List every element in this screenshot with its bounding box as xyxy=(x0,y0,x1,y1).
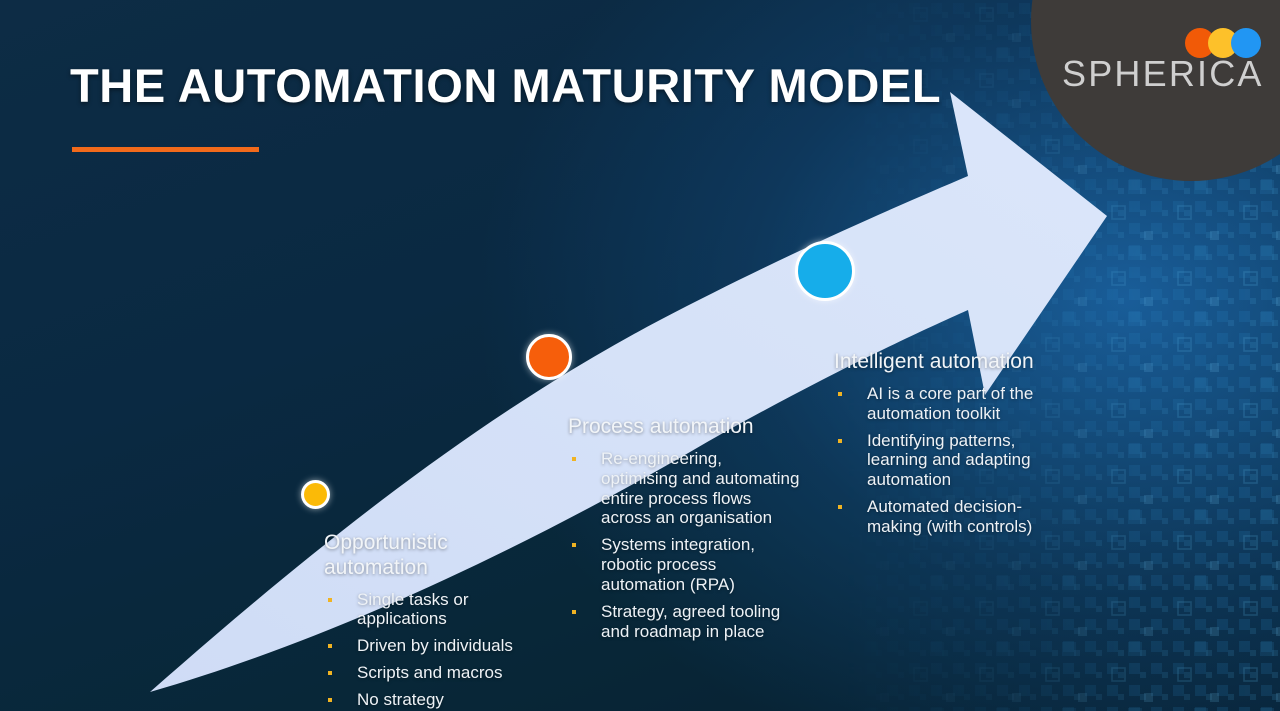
stage-marker-process xyxy=(526,334,572,380)
list-item: Scripts and macros xyxy=(324,663,554,683)
list-item: Strategy, agreed tooling and roadmap in … xyxy=(568,602,803,642)
stage-heading: Process automation xyxy=(568,415,803,440)
list-item: Systems integration, robotic process aut… xyxy=(568,535,803,595)
stage-heading: Intelligent automation xyxy=(834,350,1059,375)
stage-block-opportunistic: Opportunistic automation Single tasks or… xyxy=(324,531,554,711)
stage-block-process: Process automation Re-engineering, optim… xyxy=(568,415,803,649)
slide-canvas: THE AUTOMATION MATURITY MODEL SPHERICA O… xyxy=(0,0,1280,711)
list-item: Driven by individuals xyxy=(324,636,554,656)
list-item: Re-engineering, optimising and automatin… xyxy=(568,449,803,529)
page-title: THE AUTOMATION MATURITY MODEL xyxy=(70,58,941,113)
stage-marker-opportunistic xyxy=(301,480,330,509)
title-accent-rule xyxy=(72,147,259,152)
list-item: Identifying patterns, learning and adapt… xyxy=(834,431,1059,491)
stage-block-intelligent: Intelligent automation AI is a core part… xyxy=(834,350,1059,544)
stage-marker-intelligent xyxy=(795,241,855,301)
list-item: AI is a core part of the automation tool… xyxy=(834,384,1059,424)
stage-bullet-list: Re-engineering, optimising and automatin… xyxy=(568,449,803,642)
stage-bullet-list: Single tasks or applications Driven by i… xyxy=(324,590,554,710)
stage-heading: Opportunistic automation xyxy=(324,531,554,581)
stage-bullet-list: AI is a core part of the automation tool… xyxy=(834,384,1059,537)
list-item: Automated decision-making (with controls… xyxy=(834,497,1059,537)
list-item: Single tasks or applications xyxy=(324,590,554,630)
list-item: No strategy xyxy=(324,690,554,710)
logo-wordmark: SPHERICA xyxy=(1062,53,1264,95)
